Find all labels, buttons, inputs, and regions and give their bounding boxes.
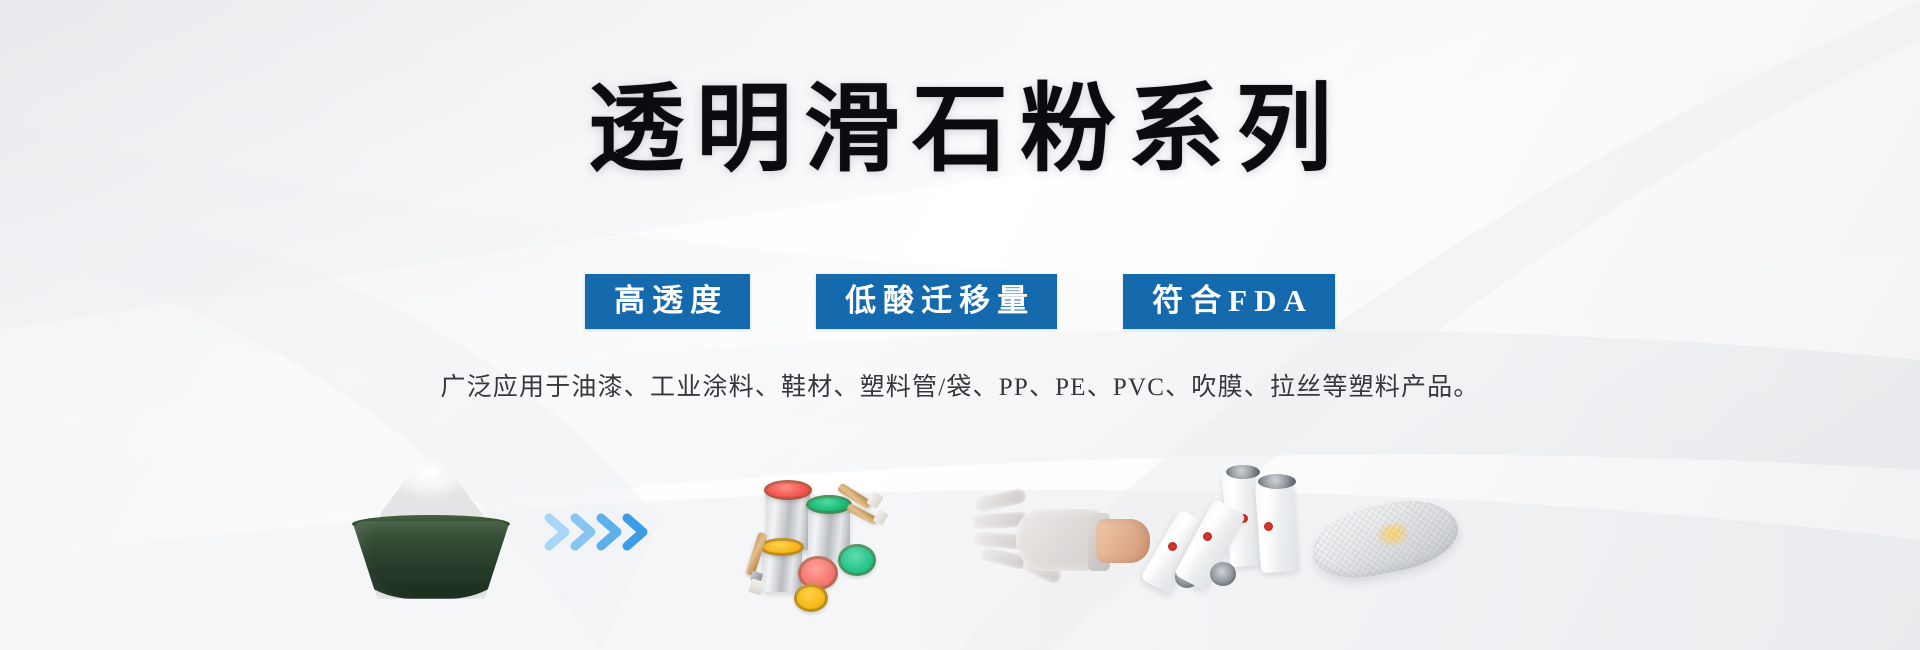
product-image-strip	[0, 450, 1920, 620]
film-roll-front-mid-cap-icon	[1210, 562, 1236, 586]
red-paint-surface-icon	[764, 480, 812, 500]
badge-low-acid-migration[interactable]: 低酸迁移量	[816, 274, 1057, 329]
paint-brush-bristles-icon	[748, 578, 765, 595]
badge-high-transparency[interactable]: 高透度	[585, 274, 750, 329]
glove-finger-1-icon	[973, 488, 1027, 513]
yellow-paint-surface-icon	[760, 538, 804, 556]
green-paint-surface-icon	[806, 495, 852, 514]
green-bowl-icon	[352, 521, 510, 599]
product-banner: 透明滑石粉系列 高透度 低酸迁移量 符合FDA 广泛应用于油漆、工业涂料、鞋材、…	[0, 0, 1920, 650]
shoe-sole-image	[1305, 475, 1465, 605]
badge-fda-compliant[interactable]: 符合FDA	[1123, 274, 1335, 329]
banner-content: 透明滑石粉系列 高透度 低酸迁移量 符合FDA 广泛应用于油漆、工业涂料、鞋材、…	[0, 0, 1920, 650]
film-roll-back-tall-cap-icon	[1226, 465, 1260, 479]
shoe-sole-texture-icon	[1306, 491, 1464, 586]
film-roll-front-left-label-icon	[1168, 542, 1177, 551]
talc-powder-bowl-image	[330, 455, 530, 605]
paint-cans-image	[750, 472, 940, 617]
film-roll-right-label-icon	[1264, 522, 1273, 531]
feature-badge-row: 高透度 低酸迁移量 符合FDA	[585, 274, 1335, 329]
film-roll-front-mid-label-icon	[1203, 532, 1212, 541]
plastic-glove-hand-image	[970, 475, 1150, 610]
application-description: 广泛应用于油漆、工业涂料、鞋材、塑料管/袋、PP、PE、PVC、吹膜、拉丝等塑料…	[440, 367, 1479, 403]
film-roll-right-cap-icon	[1258, 474, 1296, 489]
gold-paint-lid-icon	[794, 584, 828, 612]
plastic-film-rolls-image	[1142, 470, 1317, 615]
page-title: 透明滑石粉系列	[576, 78, 1344, 182]
film-roll-right-icon	[1255, 479, 1299, 573]
process-arrows-icon	[543, 502, 663, 562]
teal-paint-lid-icon	[838, 544, 876, 576]
